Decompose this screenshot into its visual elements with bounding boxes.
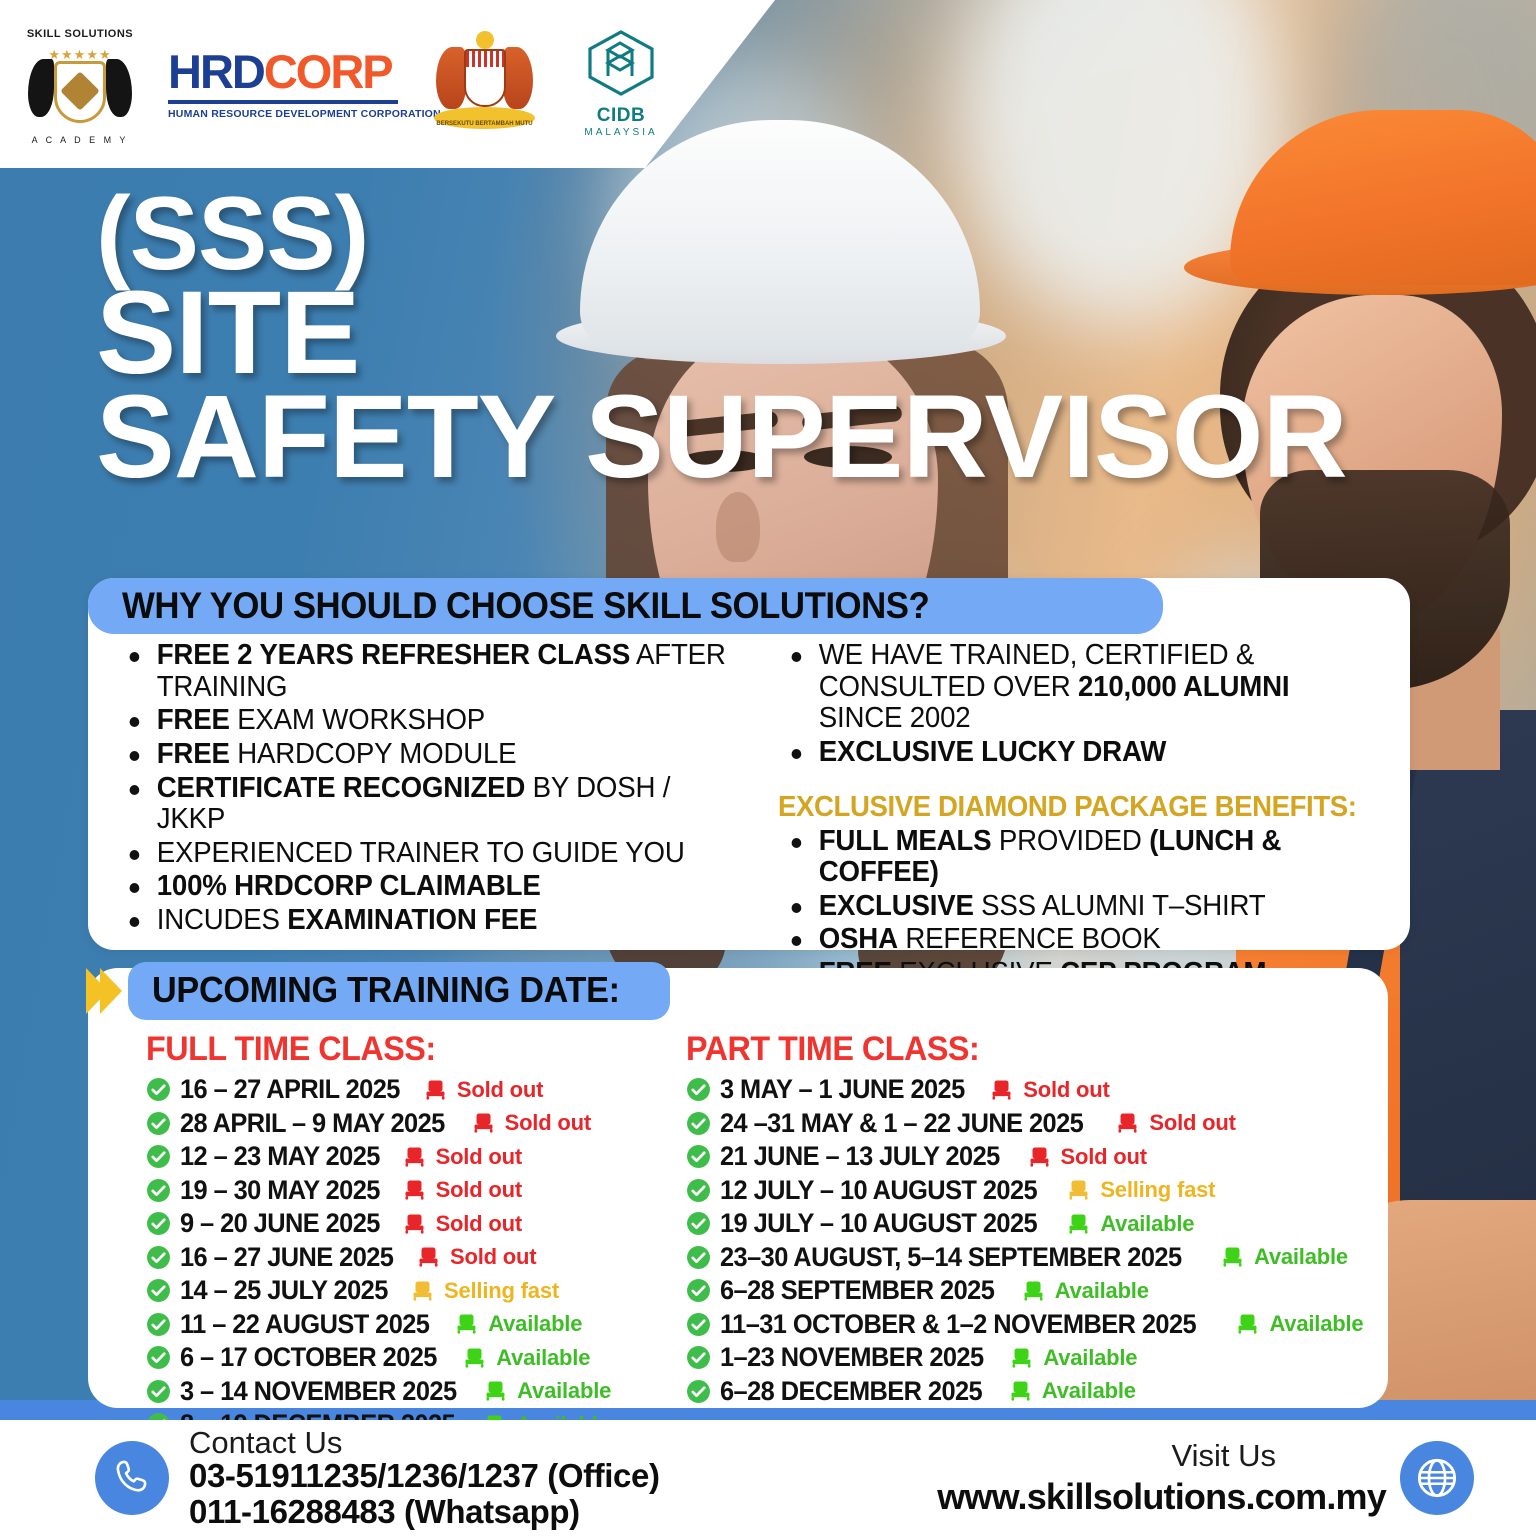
hrd-letter-d: D xyxy=(232,45,264,98)
check-circle-icon xyxy=(686,1178,711,1203)
website-url[interactable]: www.skillsolutions.com.my xyxy=(937,1476,1386,1518)
seat-status-icon xyxy=(1009,1346,1034,1370)
date-text: 6–28 DECEMBER 2025 xyxy=(720,1376,982,1407)
date-row[interactable]: 24 –31 MAY & 1 – 22 JUNE 2025Sold out xyxy=(686,1108,1378,1139)
benefit-item: FREE 2 YEARS REFRESHER CLASS AFTER TRAIN… xyxy=(116,640,733,703)
crest-crown-icon xyxy=(466,51,504,67)
check-circle-icon xyxy=(686,1345,711,1370)
benefit-item: WE HAVE TRAINED, CERTIFIED & CONSULTED O… xyxy=(778,640,1374,735)
date-row[interactable]: 11 – 22 AUGUST 2025Available xyxy=(146,1309,678,1340)
benefit-item: FREE HARDCOPY MODULE xyxy=(116,739,733,771)
date-row[interactable]: 19 JULY – 10 AUGUST 2025Available xyxy=(686,1208,1378,1239)
benefit-item: 100% HRDCORP CLAIMABLE xyxy=(116,871,733,903)
date-text: 14 – 25 JULY 2025 xyxy=(180,1275,388,1306)
seat-status-icon xyxy=(416,1245,441,1269)
date-text: 9 – 20 JUNE 2025 xyxy=(180,1208,380,1239)
upcoming-heading-row: UPCOMING TRAINING DATE: xyxy=(94,962,670,1020)
full-time-date-list: 16 – 27 APRIL 2025Sold out28 APRIL – 9 M… xyxy=(146,1074,678,1440)
date-row[interactable]: 12 – 23 MAY 2025Sold out xyxy=(146,1141,678,1172)
availability-status: Sold out xyxy=(1061,1144,1147,1170)
date-row[interactable]: 19 – 30 MAY 2025Sold out xyxy=(146,1175,678,1206)
check-circle-icon xyxy=(146,1144,171,1169)
crest-tiger-left-icon xyxy=(436,47,466,109)
crest-sun-icon xyxy=(476,31,494,49)
date-row[interactable]: 6–28 DECEMBER 2025Available xyxy=(686,1376,1378,1407)
office-phone-number[interactable]: 03-51911235/1236/1237 (Office) xyxy=(189,1458,660,1494)
header-logo-bar: SKILL SOLUTIONS ★★★★★ A C A D E M Y HRDC… xyxy=(0,0,775,168)
check-circle-icon xyxy=(146,1211,171,1236)
ssa-wing-left-icon xyxy=(28,59,54,117)
part-time-class-title: PART TIME CLASS: xyxy=(686,1030,1343,1069)
date-row[interactable]: 21 JUNE – 13 JULY 2025Sold out xyxy=(686,1141,1378,1172)
contact-block: Contact Us 03-51911235/1236/1237 (Office… xyxy=(0,1427,660,1530)
check-circle-icon xyxy=(146,1379,171,1404)
availability-status: Sold out xyxy=(1149,1110,1235,1136)
diamond-benefit-item: EXCLUSIVE SSS ALUMNI T–SHIRT xyxy=(778,891,1374,923)
check-circle-icon xyxy=(686,1211,711,1236)
cidb-subtitle: MALAYSIA xyxy=(571,127,671,138)
date-text: 19 JULY – 10 AUGUST 2025 xyxy=(720,1208,1037,1239)
check-circle-icon xyxy=(146,1278,171,1303)
availability-status: Selling fast xyxy=(444,1278,559,1304)
upcoming-heading-pill: UPCOMING TRAINING DATE: xyxy=(128,962,670,1020)
availability-status: Available xyxy=(1055,1278,1149,1304)
seat-status-icon xyxy=(483,1379,508,1403)
poster-canvas: SKILL SOLUTIONS ★★★★★ A C A D E M Y HRDC… xyxy=(0,0,1536,1536)
seat-status-icon xyxy=(1220,1245,1245,1269)
date-text: 6 – 17 OCTOBER 2025 xyxy=(180,1342,437,1373)
crest-motto-text: BERSEKUTU BERTAMBAH MUTU xyxy=(432,121,537,127)
visit-us-label: Visit Us xyxy=(1171,1438,1276,1474)
availability-status: Available xyxy=(1042,1378,1136,1404)
seat-status-icon xyxy=(1066,1178,1091,1202)
date-text: 3 MAY – 1 JUNE 2025 xyxy=(720,1074,965,1105)
title-line-sss: (SSS) xyxy=(96,190,1347,279)
seat-status-icon xyxy=(423,1078,448,1102)
date-row[interactable]: 6–28 SEPTEMBER 2025Available xyxy=(686,1275,1378,1306)
hrd-corp-word: CORP xyxy=(264,45,392,98)
hrd-divider xyxy=(168,100,398,104)
why-benefits-right-list: WE HAVE TRAINED, CERTIFIED & CONSULTED O… xyxy=(778,640,1392,769)
cidb-hexagon-icon xyxy=(586,30,656,96)
diamond-benefit-item: OSHA REFERENCE BOOK xyxy=(778,924,1374,956)
check-circle-icon xyxy=(146,1178,171,1203)
hrd-letter-h: H xyxy=(168,45,200,98)
availability-status: Available xyxy=(1269,1311,1363,1337)
phone-icon xyxy=(111,1457,153,1499)
date-text: 12 JULY – 10 AUGUST 2025 xyxy=(720,1175,1037,1206)
upcoming-heading-text: UPCOMING TRAINING DATE: xyxy=(152,969,620,1011)
diamond-benefits-list: FULL MEALS PROVIDED (LUNCH & COFFEE)EXCL… xyxy=(778,826,1392,990)
date-row[interactable]: 23–30 AUGUST, 5–14 SEPTEMBER 2025Availab… xyxy=(686,1242,1378,1273)
date-row[interactable]: 11–31 OCTOBER & 1–2 NOVEMBER 2025Availab… xyxy=(686,1309,1378,1340)
skill-solutions-academy-logo: SKILL SOLUTIONS ★★★★★ A C A D E M Y xyxy=(26,25,134,143)
check-circle-icon xyxy=(686,1278,711,1303)
whatsapp-phone-number[interactable]: 011-16288483 (Whatsapp) xyxy=(189,1494,660,1530)
date-row[interactable]: 14 – 25 JULY 2025Selling fast xyxy=(146,1275,678,1306)
diamond-package-heading: EXCLUSIVE DIAMOND PACKAGE BENEFITS: xyxy=(778,791,1361,824)
check-circle-icon xyxy=(686,1312,711,1337)
seat-status-icon xyxy=(1027,1145,1052,1169)
seat-status-icon xyxy=(402,1212,427,1236)
why-benefits-left-list: FREE 2 YEARS REFRESHER CLASS AFTER TRAIN… xyxy=(116,640,752,937)
date-text: 28 APRIL – 9 MAY 2025 xyxy=(180,1108,445,1139)
date-text: 12 – 23 MAY 2025 xyxy=(180,1141,380,1172)
hrd-corp-logo: HRDCORP HUMAN RESOURCE DEVELOPMENT CORPO… xyxy=(168,48,398,120)
benefit-item: FREE EXAM WORKSHOP xyxy=(116,705,733,737)
availability-status: Sold out xyxy=(457,1077,543,1103)
date-text: 19 – 30 MAY 2025 xyxy=(180,1175,380,1206)
availability-status: Available xyxy=(488,1311,582,1337)
availability-status: Available xyxy=(1254,1244,1348,1270)
seat-status-icon xyxy=(1066,1212,1091,1236)
malaysia-crest-logo: BERSEKUTU BERTAMBAH MUTU xyxy=(432,29,537,139)
benefit-item: INCUDES EXAMINATION FEE xyxy=(116,905,733,937)
hrd-subtitle: HUMAN RESOURCE DEVELOPMENT CORPORATION xyxy=(168,108,398,120)
date-row[interactable]: 3 MAY – 1 JUNE 2025Sold out xyxy=(686,1074,1378,1105)
check-circle-icon xyxy=(146,1245,171,1270)
date-text: 1–23 NOVEMBER 2025 xyxy=(720,1342,984,1373)
ssa-academy-text: A C A D E M Y xyxy=(26,135,134,145)
date-row[interactable]: 12 JULY – 10 AUGUST 2025Selling fast xyxy=(686,1175,1378,1206)
check-circle-icon xyxy=(146,1077,171,1102)
seat-status-icon xyxy=(471,1111,496,1135)
benefit-item: CERTIFICATE RECOGNIZED BY DOSH / JKKP xyxy=(116,773,733,836)
title-line-site: SITE xyxy=(96,283,1372,384)
date-text: 16 – 27 JUNE 2025 xyxy=(180,1242,393,1273)
check-circle-icon xyxy=(686,1379,711,1404)
globe-icon-circle[interactable] xyxy=(1400,1441,1474,1515)
poster-title: (SSS) SITE SAFETY SUPERVISOR xyxy=(96,190,1347,488)
globe-icon xyxy=(1414,1455,1460,1501)
check-circle-icon xyxy=(146,1312,171,1337)
why-choose-card: WHY YOU SHOULD CHOOSE SKILL SOLUTIONS? F… xyxy=(88,578,1410,950)
availability-status: Sold out xyxy=(1023,1077,1109,1103)
check-circle-icon xyxy=(146,1111,171,1136)
seat-status-icon xyxy=(1235,1312,1260,1336)
date-text: 11 – 22 AUGUST 2025 xyxy=(180,1309,429,1340)
phone-icon-circle[interactable] xyxy=(95,1441,169,1515)
date-row[interactable]: 16 – 27 JUNE 2025Sold out xyxy=(146,1242,678,1273)
check-circle-icon xyxy=(146,1345,171,1370)
date-row[interactable]: 28 APRIL – 9 MAY 2025Sold out xyxy=(146,1108,678,1139)
contact-us-label: Contact Us xyxy=(189,1427,660,1459)
availability-status: Sold out xyxy=(436,1211,522,1237)
seat-status-icon xyxy=(402,1145,427,1169)
date-text: 23–30 AUGUST, 5–14 SEPTEMBER 2025 xyxy=(720,1242,1181,1273)
check-circle-icon xyxy=(686,1077,711,1102)
date-text: 3 – 14 NOVEMBER 2025 xyxy=(180,1376,457,1407)
availability-status: Sold out xyxy=(436,1177,522,1203)
date-row[interactable]: 9 – 20 JUNE 2025Sold out xyxy=(146,1208,678,1239)
date-row[interactable]: 1–23 NOVEMBER 2025Available xyxy=(686,1342,1378,1373)
full-time-class-title: FULL TIME CLASS: xyxy=(146,1030,651,1069)
cidb-title: CIDB xyxy=(571,105,671,127)
seat-status-icon xyxy=(454,1312,479,1336)
availability-status: Available xyxy=(517,1378,611,1404)
seat-status-icon xyxy=(1008,1379,1033,1403)
hrd-letter-r: R xyxy=(200,45,232,98)
cidb-logo: CIDB MALAYSIA xyxy=(571,30,671,138)
date-row[interactable]: 3 – 14 NOVEMBER 2025Available xyxy=(146,1376,678,1407)
benefit-item: EXPERIENCED TRAINER TO GUIDE YOU xyxy=(116,838,733,870)
date-text: 24 –31 MAY & 1 – 22 JUNE 2025 xyxy=(720,1108,1083,1139)
why-choose-banner-text: WHY YOU SHOULD CHOOSE SKILL SOLUTIONS? xyxy=(122,585,929,627)
availability-status: Available xyxy=(496,1345,590,1371)
upcoming-dates-card: UPCOMING TRAINING DATE: FULL TIME CLASS:… xyxy=(88,968,1388,1408)
availability-status: Available xyxy=(1043,1345,1137,1371)
diamond-benefit-item: FULL MEALS PROVIDED (LUNCH & COFFEE) xyxy=(778,826,1374,889)
date-text: 21 JUNE – 13 JULY 2025 xyxy=(720,1141,1000,1172)
availability-status: Sold out xyxy=(450,1244,536,1270)
date-row[interactable]: 16 – 27 APRIL 2025Sold out xyxy=(146,1074,678,1105)
benefit-item: EXCLUSIVE LUCKY DRAW xyxy=(778,737,1374,769)
title-line-safety-supervisor: SAFETY SUPERVISOR xyxy=(96,387,1347,488)
date-row[interactable]: 6 – 17 OCTOBER 2025Available xyxy=(146,1342,678,1373)
crest-tiger-right-icon xyxy=(503,47,533,109)
availability-status: Selling fast xyxy=(1100,1177,1215,1203)
seat-status-icon xyxy=(989,1078,1014,1102)
availability-status: Sold out xyxy=(505,1110,591,1136)
date-text: 11–31 OCTOBER & 1–2 NOVEMBER 2025 xyxy=(720,1309,1196,1340)
check-circle-icon xyxy=(686,1245,711,1270)
footer-contact-bar: Contact Us 03-51911235/1236/1237 (Office… xyxy=(0,1420,1536,1536)
check-circle-icon xyxy=(686,1144,711,1169)
visit-block: Visit Us www.skillsolutions.com.my xyxy=(937,1438,1536,1518)
availability-status: Sold out xyxy=(436,1144,522,1170)
why-choose-banner: WHY YOU SHOULD CHOOSE SKILL SOLUTIONS? xyxy=(88,578,1163,634)
seat-status-icon xyxy=(410,1279,435,1303)
date-text: 16 – 27 APRIL 2025 xyxy=(180,1074,400,1105)
availability-status: Available xyxy=(1100,1211,1194,1237)
date-text: 6–28 SEPTEMBER 2025 xyxy=(720,1275,994,1306)
seat-status-icon xyxy=(1021,1279,1046,1303)
seat-status-icon xyxy=(462,1346,487,1370)
double-chevron-icon xyxy=(94,968,122,1014)
seat-status-icon xyxy=(402,1178,427,1202)
check-circle-icon xyxy=(686,1111,711,1136)
part-time-date-list: 3 MAY – 1 JUNE 2025Sold out24 –31 MAY & … xyxy=(686,1074,1378,1407)
seat-status-icon xyxy=(1115,1111,1140,1135)
